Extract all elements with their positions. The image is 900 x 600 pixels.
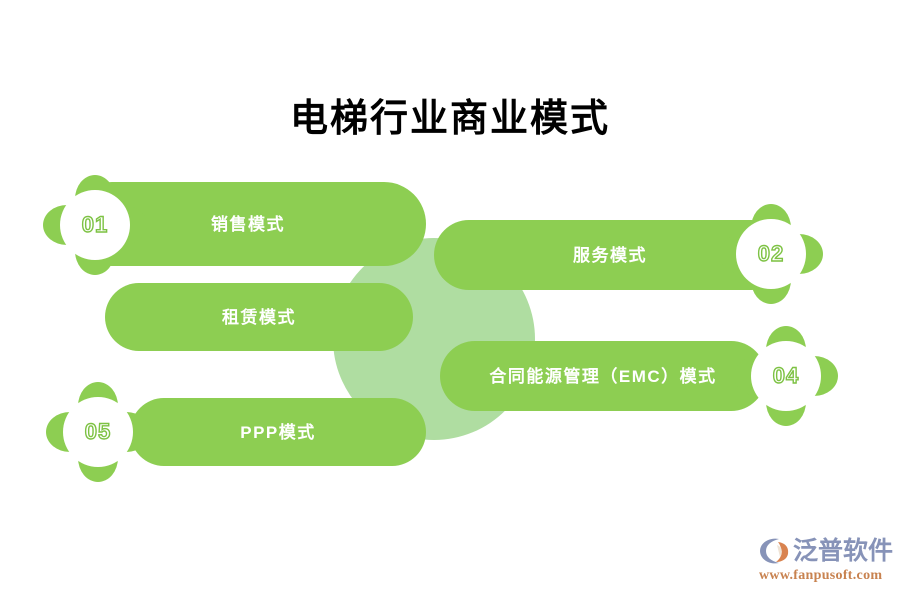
badge-number-05: 05 (85, 421, 111, 443)
mode-bar-label-01: 销售模式 (211, 216, 285, 233)
infographic-canvas: 电梯行业商业模式 销售模式 01 服务模式 02 租赁模式 合同能源管理（EMC… (0, 0, 900, 600)
mode-badge-04[interactable]: 04 (744, 334, 828, 418)
mode-bar-label-02: 服务模式 (573, 247, 647, 264)
badge-disc-05: 05 (63, 397, 133, 467)
badge-disc-04: 04 (751, 341, 821, 411)
mode-bar-label-04: 合同能源管理（EMC）模式 (489, 368, 716, 385)
brand-logo-row: 泛普软件 (757, 536, 893, 566)
mode-badge-02[interactable]: 02 (729, 212, 813, 296)
mode-bar-label-05: PPP模式 (240, 424, 316, 441)
badge-number-04: 04 (773, 365, 799, 387)
badge-disc-01: 01 (60, 190, 130, 260)
mode-badge-05[interactable]: 05 (56, 390, 140, 474)
badge-disc-02: 02 (736, 219, 806, 289)
brand-logo[interactable]: 泛普软件 www.fanpusoft.com (757, 536, 889, 588)
page-title: 电梯行业商业模式 (0, 96, 900, 142)
mode-bar-05[interactable]: PPP模式 (130, 398, 426, 466)
mode-bar-04[interactable]: 合同能源管理（EMC）模式 (440, 341, 766, 411)
brand-url: www.fanpusoft.com (759, 568, 882, 584)
badge-number-01: 01 (82, 214, 108, 236)
badge-number-02: 02 (758, 243, 784, 265)
brand-name: 泛普软件 (793, 536, 893, 566)
mode-bar-label-03: 租赁模式 (222, 309, 296, 326)
mode-bar-03[interactable]: 租赁模式 (105, 283, 413, 351)
fanpu-logo-mark-icon (757, 536, 791, 566)
mode-badge-01[interactable]: 01 (53, 183, 137, 267)
